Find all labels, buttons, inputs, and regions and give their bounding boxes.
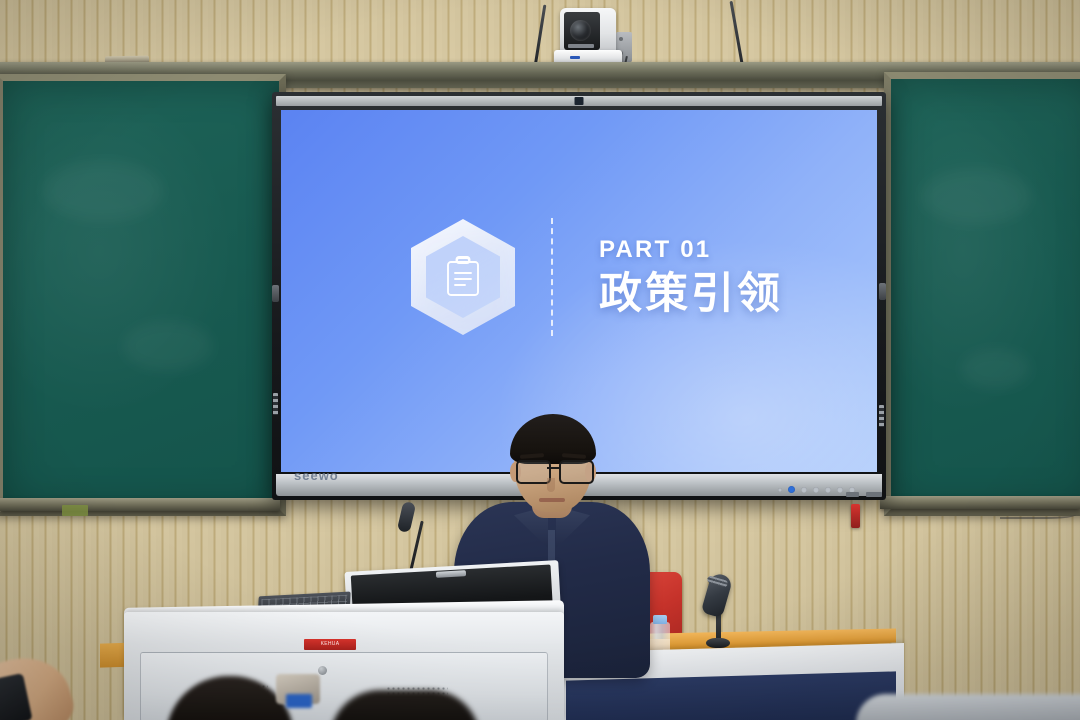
audience-smartphone-2-screen xyxy=(286,694,312,708)
wall-cable xyxy=(1000,508,1076,519)
clipboard-icon xyxy=(443,255,483,299)
classroom-scene: PART 01 政策引领 seewo xyxy=(0,0,1080,720)
slide-part-label: PART 01 xyxy=(599,236,783,264)
display-brand-label: seewo xyxy=(294,468,339,483)
chalkboard-right[interactable] xyxy=(884,72,1080,516)
glasses-lens-right xyxy=(559,460,594,484)
chalk-tray-marker xyxy=(62,505,88,516)
desk-microphone-base xyxy=(706,638,730,648)
panel-side-indicator-right xyxy=(879,405,884,427)
panel-side-button-left[interactable] xyxy=(272,285,279,302)
panel-table-navy-skirt xyxy=(566,671,896,720)
bottle-cap-icon xyxy=(653,615,667,624)
panel-side-button-right[interactable] xyxy=(879,283,886,300)
slide-text-block: PART 01 政策引领 xyxy=(599,236,783,317)
audience-shoulder xyxy=(856,694,1080,720)
panel-control-buttons[interactable] xyxy=(778,486,855,493)
camera-model-plate xyxy=(568,44,594,48)
panel-ir-receiver xyxy=(846,492,859,497)
panel-side-indicator-left xyxy=(273,393,278,415)
camera-status-led xyxy=(570,56,580,59)
glasses-bridge xyxy=(547,467,559,469)
wall-red-fixture xyxy=(851,504,860,528)
panel-button-4[interactable] xyxy=(825,487,831,493)
panel-sensor-icon xyxy=(575,97,584,105)
glasses-lens-left xyxy=(516,460,551,484)
presenter-nose xyxy=(547,478,555,492)
panel-button-5[interactable] xyxy=(837,487,843,493)
lectern-brand-plate: KEHUA xyxy=(304,639,356,650)
panel-power-button[interactable] xyxy=(788,486,795,493)
panel-button-3[interactable] xyxy=(813,487,819,493)
camera-lens-icon xyxy=(570,20,591,41)
panel-button-1[interactable] xyxy=(778,488,782,492)
panel-ir-receiver-2 xyxy=(866,492,882,497)
slide-divider xyxy=(551,218,553,336)
presenter-mouth xyxy=(539,498,565,502)
chalk-tray-left xyxy=(0,498,280,511)
chalkboard-left[interactable] xyxy=(0,74,286,516)
clipboard-hexagon-badge-icon xyxy=(411,219,515,335)
panel-button-2[interactable] xyxy=(801,487,807,493)
ptz-camera[interactable] xyxy=(548,0,658,70)
slide-title: 政策引领 xyxy=(599,272,783,317)
lectern-lock-icon[interactable] xyxy=(318,666,327,675)
